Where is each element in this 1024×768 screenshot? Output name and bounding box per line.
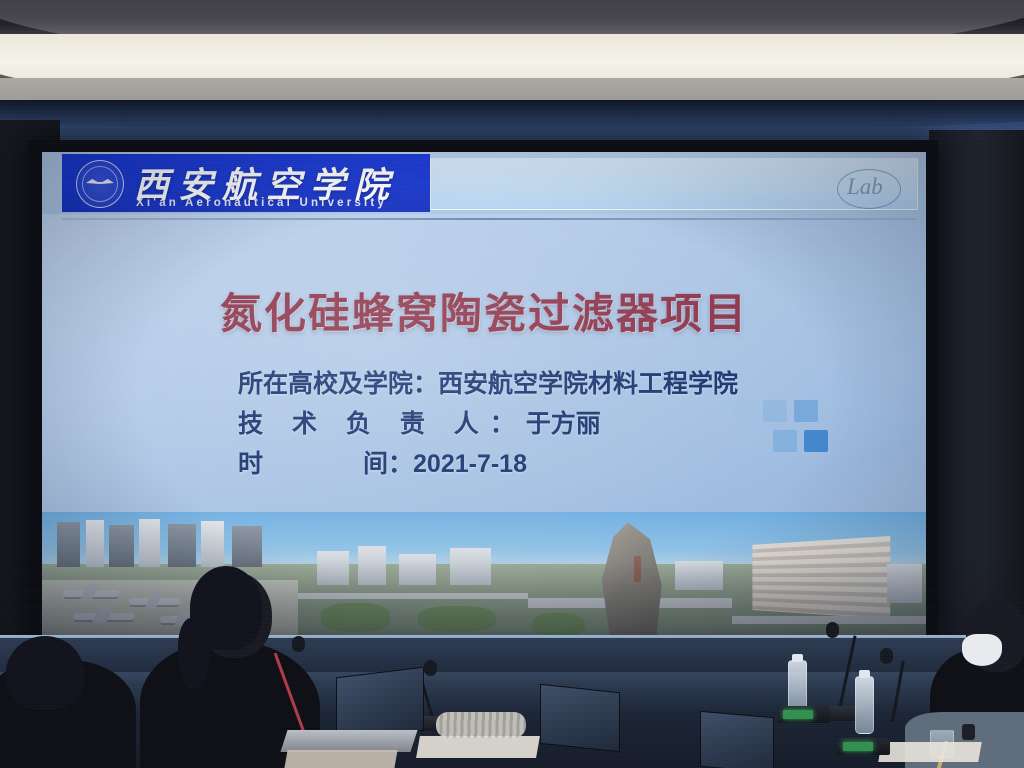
cable-bundle <box>436 712 526 738</box>
info-label-leader: 技 术 负 责 人： <box>238 410 526 438</box>
banner-blue-block: 西安航空学院 Xi'an Aeronautical University <box>62 154 430 212</box>
lab-watermark-icon: Lab <box>837 169 901 209</box>
nameplate-led <box>843 742 873 751</box>
info-value-institution: 西安航空学院材料工程学院 <box>438 370 738 398</box>
laptop-screen <box>540 684 620 752</box>
seal-bird-glyph <box>86 177 114 188</box>
microphone-head <box>292 636 305 652</box>
info-value-leader: 于方丽 <box>526 410 601 438</box>
banner-divider <box>62 218 916 220</box>
decorative-square <box>763 400 787 422</box>
decorative-square <box>794 400 818 422</box>
bottle-cap <box>859 670 870 678</box>
bottle-cap <box>792 654 803 662</box>
decorative-squares <box>732 400 840 454</box>
notepad <box>878 742 982 762</box>
banner-light-panel: Lab <box>430 158 918 210</box>
lab-watermark-text: Lab <box>847 174 883 200</box>
info-row-date: 时 间：2021-7-18 <box>238 444 738 484</box>
document-paper <box>416 736 540 758</box>
decorative-square <box>804 430 828 452</box>
info-row-institution: 所在高校及学院：西安航空学院材料工程学院 <box>238 364 738 404</box>
decorative-square <box>742 430 766 452</box>
university-name-en: Xi'an Aeronautical University <box>136 197 387 209</box>
delegate-nameplate-display <box>778 706 830 723</box>
decorative-square <box>773 430 797 452</box>
wall-shadow <box>0 100 1024 130</box>
slide-title: 氮化硅蜂窝陶瓷过滤器项目 <box>42 280 926 341</box>
delegate-nameplate-display <box>838 738 890 755</box>
info-label-institution: 所在高校及学院： <box>238 370 438 398</box>
slide-info-block: 所在高校及学院：西安航空学院材料工程学院 技 术 负 责 人：于方丽 时 间：2… <box>238 364 738 484</box>
microphone-head <box>880 648 893 664</box>
microphone-head <box>826 622 839 638</box>
attendee-left-hair <box>6 636 84 710</box>
microphone-head <box>424 660 437 676</box>
nameplate-led <box>783 710 813 719</box>
document-paper <box>284 750 397 768</box>
laptop-screen <box>700 711 774 768</box>
info-row-leader: 技 术 负 责 人：于方丽 <box>238 404 738 444</box>
slide-banner: 西安航空学院 Xi'an Aeronautical University Lab <box>42 152 926 214</box>
info-value-date: 2021-7-18 <box>413 450 527 478</box>
university-seal-icon <box>76 160 124 208</box>
water-bottle <box>855 676 874 734</box>
decorative-square <box>732 400 756 422</box>
wrist-watch <box>962 724 975 740</box>
laptop-keyboard <box>280 730 417 752</box>
conference-room-photo: 西安航空学院 Xi'an Aeronautical University Lab… <box>0 0 1024 768</box>
info-label-date: 时 间： <box>238 450 413 478</box>
face-mask <box>962 634 1002 666</box>
attendee-presenter-ponytail <box>178 618 210 690</box>
